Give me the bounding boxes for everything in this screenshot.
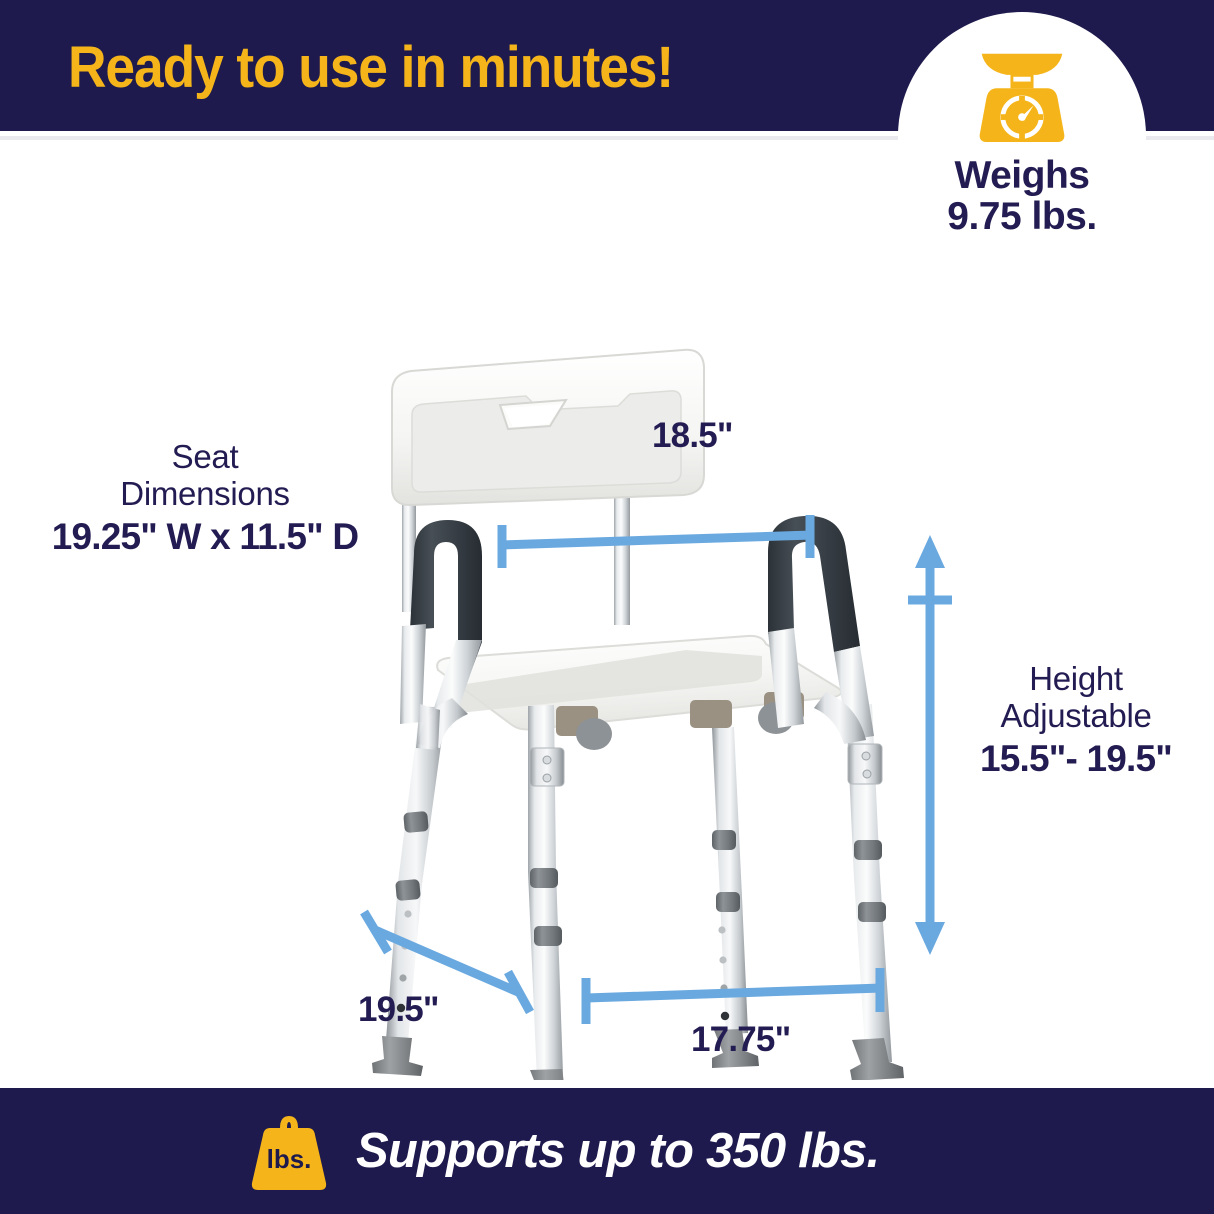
height-adjustable-callout: Height Adjustable 15.5"- 19.5"	[940, 660, 1212, 781]
dimension-label-18-5: 18.5"	[652, 416, 733, 456]
badge-weight-value: 9.75 lbs.	[947, 197, 1096, 238]
height-adjustable-value: 15.5"- 19.5"	[940, 737, 1212, 781]
product-stage: Seat Dimensions 19.25" W x 11.5" D Heigh…	[0, 140, 1214, 1080]
footer-divider	[0, 1080, 1214, 1088]
leg-rear-right	[712, 727, 759, 1068]
header-title: Ready to use in minutes!	[68, 34, 673, 101]
footer-icon-label: lbs.	[267, 1144, 312, 1174]
weight-lbs-icon: lbs.	[250, 1108, 328, 1194]
footer-support-text: Supports up to 350 lbs.	[356, 1123, 879, 1179]
shower-chair-illustration	[0, 140, 1214, 1080]
seat-dimensions-callout: Seat Dimensions 19.25" W x 11.5" D	[10, 438, 400, 559]
seat-dimensions-label-line1: Seat	[10, 438, 400, 475]
footer-bar: lbs. Supports up to 350 lbs.	[0, 1088, 1214, 1214]
height-adjustable-label-line2: Adjustable	[940, 697, 1212, 734]
height-adjustable-label-line1: Height	[940, 660, 1212, 697]
dimension-label-17-75: 17.75"	[691, 1020, 790, 1060]
seat-dimensions-label-line2: Dimensions	[10, 475, 400, 512]
dimension-line-width-18-5	[500, 515, 812, 568]
leg-front-left	[527, 705, 580, 1080]
kitchen-scale-icon	[974, 46, 1070, 144]
dimension-label-19-5: 19.5"	[358, 990, 439, 1030]
badge-weighs-label: Weighs	[955, 156, 1090, 197]
infographic-page: Ready to use in minutes! Weighs 9.75 lbs…	[0, 0, 1214, 1214]
weight-badge: Weighs 9.75 lbs.	[898, 12, 1146, 260]
seat-dimensions-value: 19.25" W x 11.5" D	[10, 515, 400, 559]
leg-front-right	[846, 704, 904, 1080]
